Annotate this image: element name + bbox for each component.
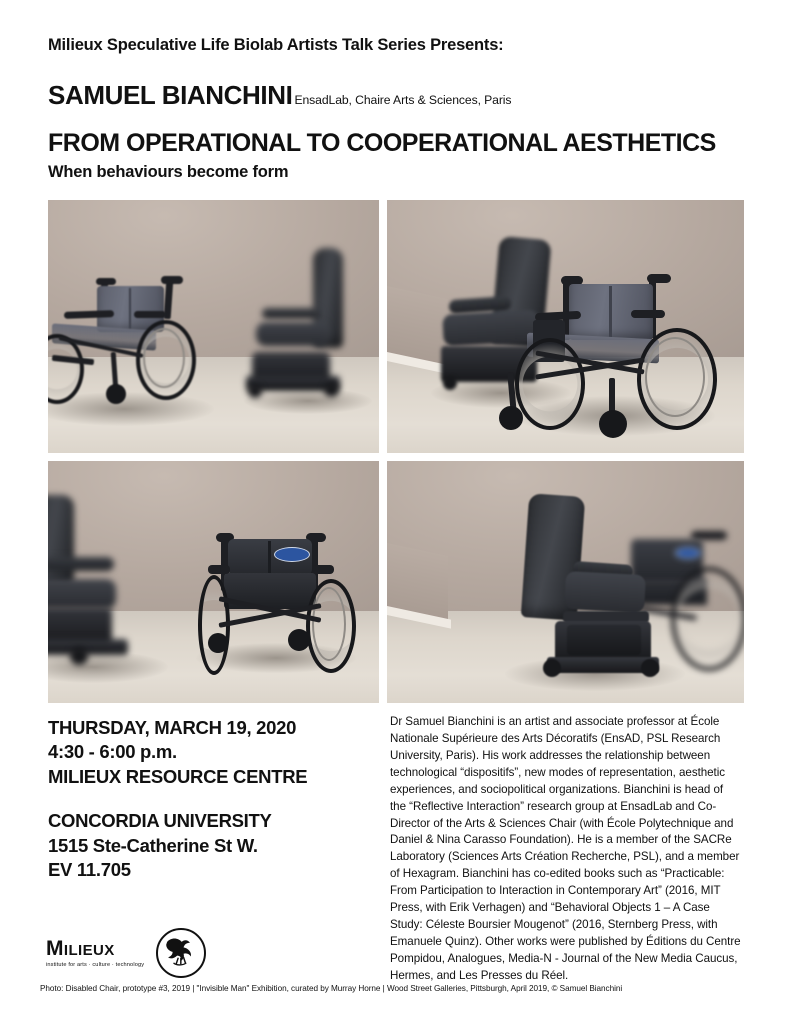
photo-credit: Photo: Disabled Chair, prototype #3, 201…: [40, 984, 622, 994]
wheelchair-backrest-split: [609, 286, 612, 338]
wheelchair-backrest-split: [129, 288, 131, 330]
event-time: 4:30 - 6:00 p.m.: [48, 740, 368, 764]
powerchair-caster-right: [324, 382, 339, 397]
photo-bottom-left: [48, 461, 379, 703]
event-details: THURSDAY, MARCH 19, 2020 4:30 - 6:00 p.m…: [48, 716, 368, 882]
powerchair-caster-left: [248, 384, 262, 398]
powerchair-seat: [564, 571, 646, 613]
powerchair-caster-right: [641, 659, 659, 677]
speaker-row: SAMUEL BIANCHINI EnsadLab, Chaire Arts &…: [48, 82, 748, 108]
invacare-badge: [675, 547, 701, 559]
invacare-badge: [274, 547, 310, 562]
powerchair-caster: [70, 647, 88, 665]
wheelchair-handle-left: [96, 278, 116, 285]
talk-subtitle: When behaviours become form: [48, 163, 748, 181]
event-room-number: EV 11.705: [48, 858, 368, 882]
wheelchair-backrest-split: [268, 541, 271, 573]
powerchair-chassis: [48, 639, 128, 655]
wheelchair-handrim: [143, 328, 185, 388]
powerchair-caster: [443, 376, 457, 390]
powerchair-seat: [256, 322, 328, 346]
wheelchair-handrim-right: [645, 337, 705, 417]
wheelchair-armrest-right: [631, 310, 665, 318]
powerchair-seat: [48, 579, 116, 609]
speaker-name: SAMUEL BIANCHINI: [48, 82, 292, 108]
wheelchair-caster-left: [208, 633, 228, 653]
wheelchair-armrest-right: [312, 565, 334, 574]
event-institution: CONCORDIA UNIVERSITY: [48, 809, 368, 833]
eagle-icon: [156, 928, 206, 978]
talk-title: FROM OPERATIONAL TO COOPERATIONAL AESTHE…: [48, 130, 748, 156]
event-spacer: [48, 789, 368, 809]
wheelchair-caster-left: [499, 406, 523, 430]
photo-bottom-right: [387, 461, 744, 703]
powerchair-seat: [442, 310, 540, 347]
poster-header: Milieux Speculative Life Biolab Artists …: [48, 36, 748, 181]
event-date: THURSDAY, MARCH 19, 2020: [48, 716, 368, 740]
milieux-tagline: institute for arts · culture · technolog…: [46, 963, 144, 969]
event-venue: MILIEUX RESOURCE CENTRE: [48, 765, 368, 789]
powerchair-armrest: [262, 308, 320, 319]
speaker-affiliation: EnsadLab, Chaire Arts & Sciences, Paris: [294, 94, 511, 106]
powerchair-caster-left: [543, 659, 561, 677]
wheelchair-handrim-right: [312, 587, 346, 661]
logo-row: MILIEUX institute for arts · culture · t…: [46, 928, 206, 978]
milieux-logo: MILIEUX institute for arts · culture · t…: [46, 938, 144, 969]
milieux-wordmark: MILIEUX: [46, 938, 144, 959]
photo-top-left: [48, 200, 379, 453]
speaker-bio: Dr Samuel Bianchini is an artist and ass…: [390, 714, 742, 985]
wheelchair-caster-right: [288, 629, 310, 651]
milieux-wordmark-rest: ILIEUX: [64, 942, 115, 959]
photo-grid: [48, 200, 744, 703]
powerchair-bag: [567, 625, 641, 655]
wheelchair-rear-wheel: [671, 567, 744, 671]
milieux-wordmark-initial: M: [46, 937, 64, 960]
wheelchair-front-caster: [106, 384, 126, 404]
series-line: Milieux Speculative Life Biolab Artists …: [48, 36, 748, 56]
powerchair-shadow: [244, 388, 372, 414]
powerchair-backrest: [48, 495, 74, 585]
wheelchair-rear-wheel-left: [515, 338, 585, 430]
event-street-address: 1515 Ste-Catherine St W.: [48, 834, 368, 858]
photo-top-right: [387, 200, 744, 453]
wheelchair-armrest-left: [208, 565, 230, 574]
powerchair-armrest: [48, 557, 114, 571]
poster-root: Milieux Speculative Life Biolab Artists …: [0, 0, 791, 1023]
wheelchair-caster-right: [599, 410, 627, 438]
wheelchair-armrest-right: [134, 311, 166, 318]
wheelchair-handle-right: [161, 276, 183, 284]
